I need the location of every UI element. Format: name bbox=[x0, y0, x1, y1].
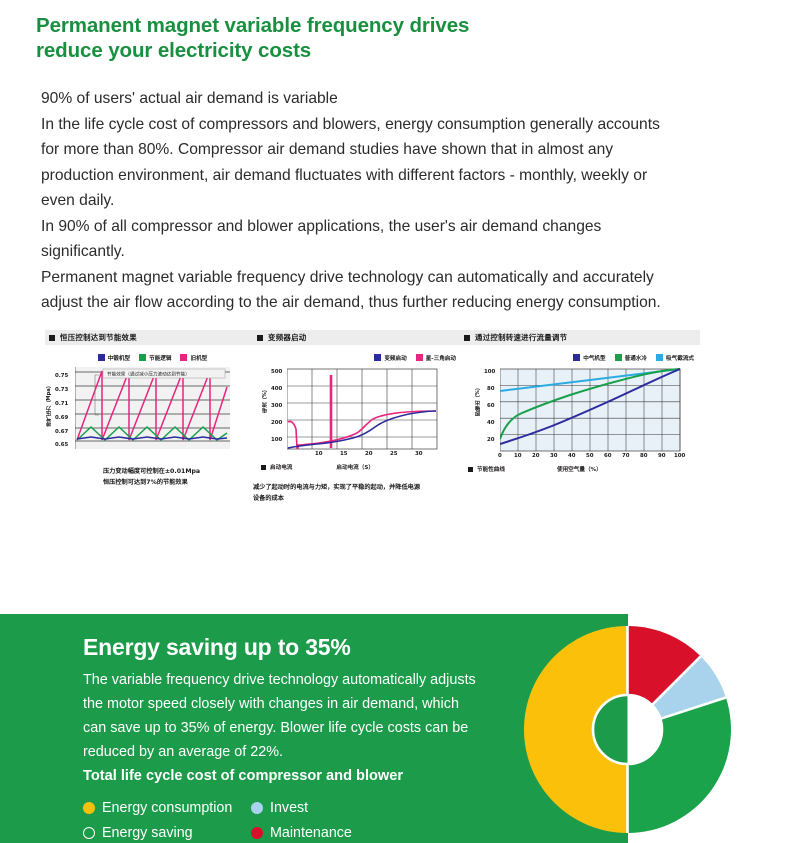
chart-3-y-axis-label: 即输出（%） bbox=[474, 385, 481, 416]
legend-dot-icon bbox=[83, 827, 95, 839]
chart-panel-constant-pressure: 恒压控制达到节能效果 中锻机型 节能逻辑 旧机型 排气压力（Mpa） 0.7 bbox=[45, 330, 260, 488]
legend-swatch-icon bbox=[615, 354, 622, 361]
legend-item: 中锻机型 bbox=[98, 354, 130, 362]
chart-2-footmark: 启动电流 bbox=[261, 463, 292, 471]
headline-line-2: reduce your electricity costs bbox=[36, 38, 636, 63]
legend-item-invest: Invest bbox=[251, 800, 391, 816]
body-copy: 90% of users' actual air demand is varia… bbox=[41, 86, 661, 316]
legend-item: 节能逻辑 bbox=[139, 354, 171, 362]
x-tick: 10 bbox=[315, 451, 323, 457]
chart-panel-flow-control: 通过控制转速进行流量调节 中气机型 普通水冷 吸气截流式 即输出（%） 10 bbox=[460, 330, 700, 473]
chart-3-axis-row: 节能性曲线 使用空气量（%） bbox=[468, 465, 700, 473]
y-tick: 80 bbox=[487, 386, 495, 392]
bullet-square-icon bbox=[49, 335, 55, 341]
energy-saving-paragraph: The variable frequency drive technology … bbox=[83, 668, 483, 764]
legend-swatch-icon bbox=[98, 354, 105, 361]
chart-1-title: 恒压控制达到节能效果 bbox=[60, 332, 137, 343]
x-tick: 100 bbox=[674, 453, 685, 459]
chart-3-footmark: 节能性曲线 bbox=[468, 465, 505, 473]
chart-1-svg: 节能效果（通过减小压力波动达到节能） bbox=[75, 367, 260, 452]
y-tick: 500 bbox=[271, 369, 282, 375]
legend-item: 星-三角启动 bbox=[416, 354, 456, 362]
x-tick: 20 bbox=[365, 451, 373, 457]
y-tick: 400 bbox=[271, 386, 282, 392]
legend-label: 变频启动 bbox=[384, 354, 406, 362]
legend-item: 旧机型 bbox=[180, 354, 207, 362]
x-tick: 20 bbox=[532, 453, 540, 459]
legend-item-energy-saving: Energy saving bbox=[83, 825, 251, 841]
legend-item-energy-consumption: Energy consumption bbox=[83, 800, 251, 816]
donut-legend: Energy consumption Invest Energy saving … bbox=[83, 800, 383, 841]
chart-2-notes: 减少了起动时的电流与力矩，实现了平稳的起动，并降低电源 设备的成本 bbox=[253, 482, 468, 504]
legend-label: 中气机型 bbox=[583, 354, 605, 362]
y-tick: 60 bbox=[487, 403, 495, 409]
chart-2-y-axis-label: 电流（%） bbox=[261, 387, 268, 413]
legend-dot-icon bbox=[251, 802, 263, 814]
chart-3-title: 通过控制转速进行流量调节 bbox=[475, 332, 567, 343]
x-tick: 10 bbox=[514, 453, 522, 459]
x-tick: 60 bbox=[604, 453, 612, 459]
legend-dot-icon bbox=[83, 802, 95, 814]
y-tick: 20 bbox=[487, 437, 495, 443]
chart-2-legend: 变频启动 星-三角启动 bbox=[253, 353, 468, 362]
body-paragraph-4: Permanent magnet variable frequency driv… bbox=[41, 265, 661, 316]
x-tick: 50 bbox=[586, 453, 594, 459]
legend-swatch-icon bbox=[573, 354, 580, 361]
headline-line-1: Permanent magnet variable frequency driv… bbox=[36, 14, 469, 37]
chart-1-notes: 压力变动幅度可控制在±0.01Mpa 恒压控制可达到7%的节能效果 bbox=[103, 466, 260, 488]
chart-3-footmark-label: 节能性曲线 bbox=[477, 465, 505, 473]
y-tick: 0.67 bbox=[55, 429, 68, 435]
x-tick: 25 bbox=[390, 451, 398, 457]
chart-1-note-2: 恒压控制可达到7%的节能效果 bbox=[103, 477, 260, 488]
legend-label: 吸气截流式 bbox=[666, 354, 694, 362]
legend-item: 吸气截流式 bbox=[656, 354, 694, 362]
chart-panel-inverter-start: 变频器启动 变频启动 星-三角启动 电流（%） 500 400 300 200 … bbox=[253, 330, 468, 504]
energy-saving-title: Energy saving up to 35% bbox=[83, 634, 351, 661]
legend-item: 普通水冷 bbox=[615, 354, 647, 362]
svg-text:节能效果（通过减小压力波动达到节能）: 节能效果（通过减小压力波动达到节能） bbox=[107, 371, 190, 378]
body-paragraph-3: In 90% of all compressor and blower appl… bbox=[41, 214, 661, 265]
y-tick: 40 bbox=[487, 420, 495, 426]
y-tick: 200 bbox=[271, 420, 282, 426]
legend-label: Invest bbox=[270, 800, 308, 816]
bullet-square-icon bbox=[261, 465, 266, 470]
legend-label: Energy saving bbox=[102, 825, 193, 841]
legend-dot-icon bbox=[251, 827, 263, 839]
legend-swatch-icon bbox=[416, 354, 423, 361]
chart-1-plot: 排气压力（Mpa） 0.75 0.73 0.71 0.69 0.67 0.65 bbox=[45, 367, 260, 452]
bullet-square-icon bbox=[468, 467, 473, 472]
page-title: Permanent magnet variable frequency driv… bbox=[36, 13, 636, 64]
chart-2-header: 变频器启动 bbox=[253, 330, 468, 345]
energy-saving-subtitle: Total life cycle cost of compressor and … bbox=[83, 768, 403, 784]
chart-3-svg bbox=[500, 367, 700, 459]
x-tick: 80 bbox=[640, 453, 648, 459]
y-tick: 0.69 bbox=[55, 415, 68, 421]
legend-item-maintenance: Maintenance bbox=[251, 825, 391, 841]
chart-2-note-2: 设备的成本 bbox=[253, 493, 468, 504]
bullet-square-icon bbox=[257, 335, 263, 341]
chart-2-svg bbox=[287, 367, 467, 459]
chart-2-plot: 电流（%） 500 400 300 200 100 bbox=[253, 367, 468, 459]
legend-swatch-icon bbox=[180, 354, 187, 361]
chart-1-y-axis-label: 排气压力（Mpa） bbox=[45, 383, 52, 427]
chart-1-note-1: 压力变动幅度可控制在±0.01Mpa bbox=[103, 466, 260, 477]
chart-2-axis-row: 启动电流 启动电流（S） bbox=[261, 463, 468, 471]
legend-label: 中锻机型 bbox=[108, 354, 130, 362]
lifecycle-cost-donut-chart bbox=[520, 622, 735, 837]
x-tick: 90 bbox=[658, 453, 666, 459]
chart-3-legend: 中气机型 普通水冷 吸气截流式 bbox=[460, 353, 700, 362]
y-tick: 0.71 bbox=[55, 401, 68, 407]
x-tick: 30 bbox=[550, 453, 558, 459]
poster-page: Permanent magnet variable frequency driv… bbox=[0, 0, 793, 843]
x-tick: 30 bbox=[415, 451, 423, 457]
chart-2-note-1: 减少了起动时的电流与力矩，实现了平稳的起动，并降低电源 bbox=[253, 482, 468, 493]
legend-label: 旧机型 bbox=[190, 354, 207, 362]
chart-2-footmark-label: 启动电流 bbox=[270, 463, 292, 471]
bullet-square-icon bbox=[464, 335, 470, 341]
legend-label: 普通水冷 bbox=[625, 354, 647, 362]
chart-1-header: 恒压控制达到节能效果 bbox=[45, 330, 260, 345]
body-paragraph-2: In the life cycle cost of compressors an… bbox=[41, 112, 661, 214]
legend-item: 变频启动 bbox=[374, 354, 406, 362]
legend-swatch-icon bbox=[374, 354, 381, 361]
y-tick: 0.65 bbox=[55, 442, 68, 448]
legend-label: 节能逻辑 bbox=[149, 354, 171, 362]
y-tick: 0.73 bbox=[55, 387, 68, 393]
legend-swatch-icon bbox=[139, 354, 146, 361]
y-tick: 0.75 bbox=[55, 373, 68, 379]
legend-item: 中气机型 bbox=[573, 354, 605, 362]
y-tick: 300 bbox=[271, 403, 282, 409]
legend-swatch-icon bbox=[656, 354, 663, 361]
x-tick: 70 bbox=[622, 453, 630, 459]
x-tick: 15 bbox=[340, 451, 348, 457]
chart-3-plot: 即输出（%） 100 80 60 40 20 bbox=[460, 367, 700, 459]
chart-3-header: 通过控制转速进行流量调节 bbox=[460, 330, 700, 345]
x-tick: 40 bbox=[568, 453, 576, 459]
chart-2-title: 变频器启动 bbox=[268, 332, 306, 343]
y-tick: 100 bbox=[271, 437, 282, 443]
chart-3-x-axis-label: 使用空气量（%） bbox=[557, 465, 602, 473]
legend-label: Maintenance bbox=[270, 825, 352, 841]
body-paragraph-1: 90% of users' actual air demand is varia… bbox=[41, 86, 661, 112]
charts-strip: 恒压控制达到节能效果 中锻机型 节能逻辑 旧机型 排气压力（Mpa） 0.7 bbox=[45, 330, 745, 505]
x-tick: 0 bbox=[498, 453, 502, 459]
chart-1-legend: 中锻机型 节能逻辑 旧机型 bbox=[45, 353, 260, 362]
chart-2-x-axis-label: 启动电流（S） bbox=[336, 463, 374, 471]
legend-label: 星-三角启动 bbox=[426, 354, 456, 362]
y-tick: 100 bbox=[484, 369, 495, 375]
legend-label: Energy consumption bbox=[102, 800, 232, 816]
